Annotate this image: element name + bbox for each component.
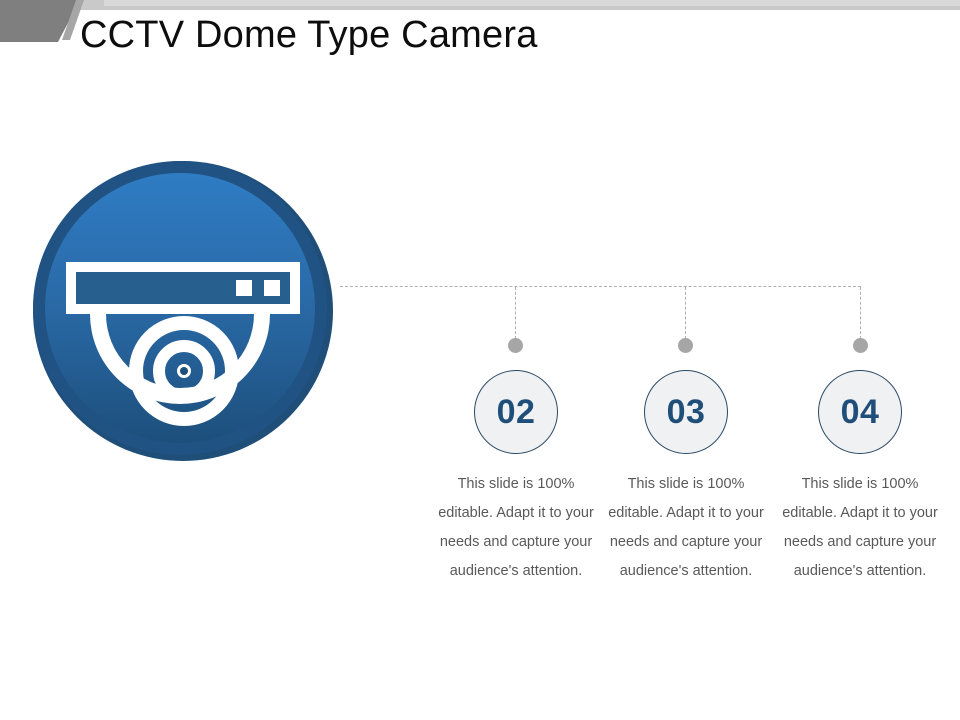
step-number-badge-1[interactable]: 02 [474,370,558,454]
connector-horizontal-line [340,286,861,287]
step-description-1: This slide is 100% editable. Adapt it to… [428,470,604,586]
content-column-1: 02 This slide is 100% editable. Adapt it… [428,370,604,586]
step-number-label-1: 02 [497,395,536,429]
connector-dot-3 [853,338,868,353]
connector-dot-2 [678,338,693,353]
connector-dot-1 [508,338,523,353]
connector-vertical-line-2 [685,287,686,339]
step-number-label-2: 03 [667,395,706,429]
step-number-label-3: 04 [841,395,880,429]
cctv-dome-camera-icon [22,160,344,462]
step-number-badge-3[interactable]: 04 [818,370,902,454]
page-title: CCTV Dome Type Camera [80,12,538,58]
step-number-badge-2[interactable]: 03 [644,370,728,454]
top-accent-bar [44,0,960,10]
connector-vertical-line-1 [515,287,516,339]
step-description-3: This slide is 100% editable. Adapt it to… [772,470,948,586]
content-column-2: 03 This slide is 100% editable. Adapt it… [598,370,774,586]
content-column-3: 04 This slide is 100% editable. Adapt it… [772,370,948,586]
step-description-2: This slide is 100% editable. Adapt it to… [598,470,774,586]
slide-canvas: CCTV Dome Type Camera [0,0,960,720]
top-accent-bar-inner [104,0,960,6]
connector-vertical-line-3 [860,287,861,339]
